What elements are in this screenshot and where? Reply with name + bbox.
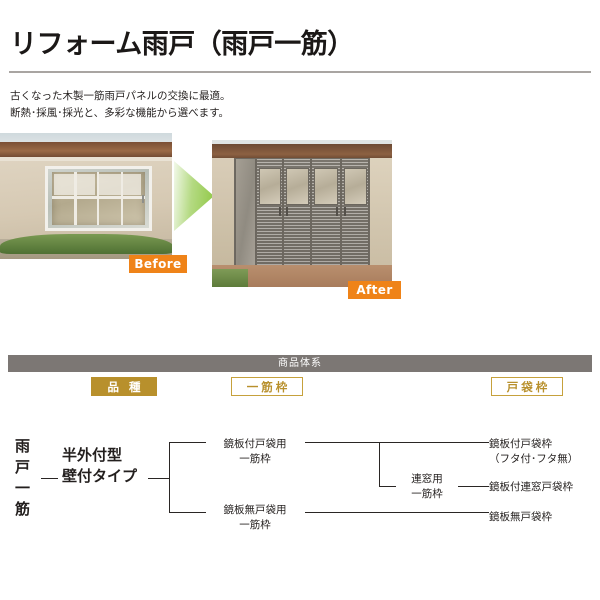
door-mullion [97, 172, 100, 226]
door-mullion [121, 172, 124, 226]
transition-arrow-area [172, 133, 216, 259]
tree-node-kagamiita-ari-frame: 鏡板付戸袋用 一筋枠 [206, 437, 304, 467]
catalog-page: リフォーム雨戸（雨戸一筋） 古くなった木製一筋雨戸パネルの交換に最適。 断熱･採… [0, 0, 600, 600]
connector-type-out [148, 478, 169, 479]
tree-node-rensou-frame: 連窓用 一筋枠 [396, 472, 458, 502]
door-mullion [74, 172, 77, 226]
eave [0, 142, 173, 158]
shutter-window [286, 168, 309, 204]
kagamiita-ari-line-1: 鏡板付戸袋用 [206, 437, 304, 452]
shutter-panel [256, 159, 283, 266]
bracket-level-1 [169, 442, 170, 513]
description-line-2: 断熱･採風･採光と、多彩な機能から選べます。 [10, 105, 231, 122]
shutter-panel [283, 159, 311, 266]
before-badge: Before [129, 255, 187, 273]
shutter-panel [341, 159, 369, 266]
connector-rensou-to-pocket2 [458, 486, 489, 487]
door-handle [142, 195, 144, 203]
connector-branch-bottom [169, 512, 206, 513]
tree-node-pocket-rensou: 鏡板付連窓戸袋枠 [489, 480, 573, 495]
connector-ari-to-pocket1 [305, 442, 489, 443]
connector-branch-top [169, 442, 206, 443]
description-line-1: 古くなった木製一筋雨戸パネルの交換に最適。 [10, 88, 231, 105]
before-photo [0, 133, 173, 259]
shutter-window [259, 168, 281, 204]
title-divider [9, 71, 591, 73]
product-description: 古くなった木製一筋雨戸パネルの交換に最適。 断熱･採風･採光と、多彩な機能から選… [10, 88, 231, 122]
pocket1-line-2: （フタ付･フタ無） [489, 452, 578, 467]
root-char-3: 一 [10, 478, 36, 499]
column-header-hitosuji-waku: 一筋枠 [231, 377, 303, 396]
connector-root [41, 478, 58, 479]
sliding-glass-door [45, 166, 152, 232]
kagamiita-nashi-line-2: 一筋枠 [206, 518, 304, 533]
column-header-hinshu: 品 種 [91, 377, 157, 396]
shutter-handle [336, 207, 338, 217]
pocket1-line-1: 鏡板付戸袋枠 [489, 437, 578, 452]
shutter-window [344, 168, 367, 204]
connector-rensou-in [379, 486, 396, 487]
rensou-line-2: 一筋枠 [396, 487, 458, 502]
wall-right [369, 158, 392, 270]
type-line-1: 半外付型 [62, 445, 137, 466]
bracket-rensou [379, 442, 380, 487]
hedge [0, 234, 173, 254]
grass [212, 269, 248, 287]
louvered-shutter-bank [234, 158, 371, 267]
root-char-4: 筋 [10, 499, 36, 520]
tree-node-kagamiita-nashi-frame: 鏡板無戸袋用 一筋枠 [206, 503, 304, 533]
tree-node-type: 半外付型 壁付タイプ [62, 445, 137, 487]
shutter-handle [286, 207, 288, 217]
shutter-pocket-panel [235, 159, 257, 266]
kagamiita-ari-line-2: 一筋枠 [206, 452, 304, 467]
after-badge: After [348, 281, 401, 299]
product-system-bar: 商品体系 [8, 355, 592, 372]
door-glazing [52, 172, 145, 226]
connector-nashi-to-pocket3 [305, 512, 489, 513]
tree-node-pocket-kagamiita-ari: 鏡板付戸袋枠 （フタ付･フタ無） [489, 437, 578, 467]
before-after-comparison [0, 133, 600, 303]
type-line-2: 壁付タイプ [62, 466, 137, 487]
column-header-tobukuro-waku: 戸袋枠 [491, 377, 563, 396]
after-photo [212, 140, 392, 287]
kagamiita-nashi-line-1: 鏡板無戸袋用 [206, 503, 304, 518]
rensou-line-1: 連窓用 [396, 472, 458, 487]
tree-node-pocket-kagamiita-nashi: 鏡板無戸袋枠 [489, 510, 552, 525]
tree-root-label: 雨 戸 一 筋 [10, 436, 36, 520]
root-char-2: 戸 [10, 457, 36, 478]
right-arrow-icon [174, 161, 214, 231]
shutter-panel [311, 159, 341, 266]
page-title: リフォーム雨戸（雨戸一筋） [10, 30, 354, 60]
product-hierarchy-tree: 雨 戸 一 筋 半外付型 壁付タイプ 鏡板付戸袋用 一筋枠 鏡板無戸袋用 一筋枠 [0, 420, 600, 545]
shutter-window [314, 168, 338, 204]
root-char-1: 雨 [10, 436, 36, 457]
shutter-handle [279, 207, 281, 217]
shutter-handle [344, 207, 346, 217]
